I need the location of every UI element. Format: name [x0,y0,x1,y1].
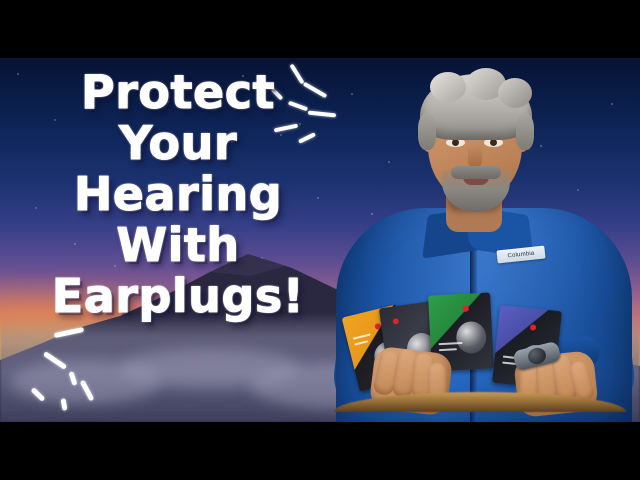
presenter-nose [468,146,482,168]
hair-wave [430,72,466,102]
presenter-sideburn-left [418,114,436,150]
pupil [452,139,459,146]
presenter-sideburn-right [516,114,534,150]
pupil [490,139,497,146]
presenter: Columbia [318,58,640,422]
hair-wave [498,78,532,108]
video-thumbnail: Protect Your Hearing With Earplugs! Colu… [0,0,640,480]
letterbox-bar-bottom [0,422,640,480]
letterbox-bar-top [0,0,640,58]
watch-face [526,346,547,366]
sparkle-burst-bottom-left-icon [14,330,104,416]
presenter-mustache [451,166,501,179]
sparkle-burst-top-right-icon [268,70,338,150]
video-frame: Protect Your Hearing With Earplugs! Colu… [0,58,640,422]
